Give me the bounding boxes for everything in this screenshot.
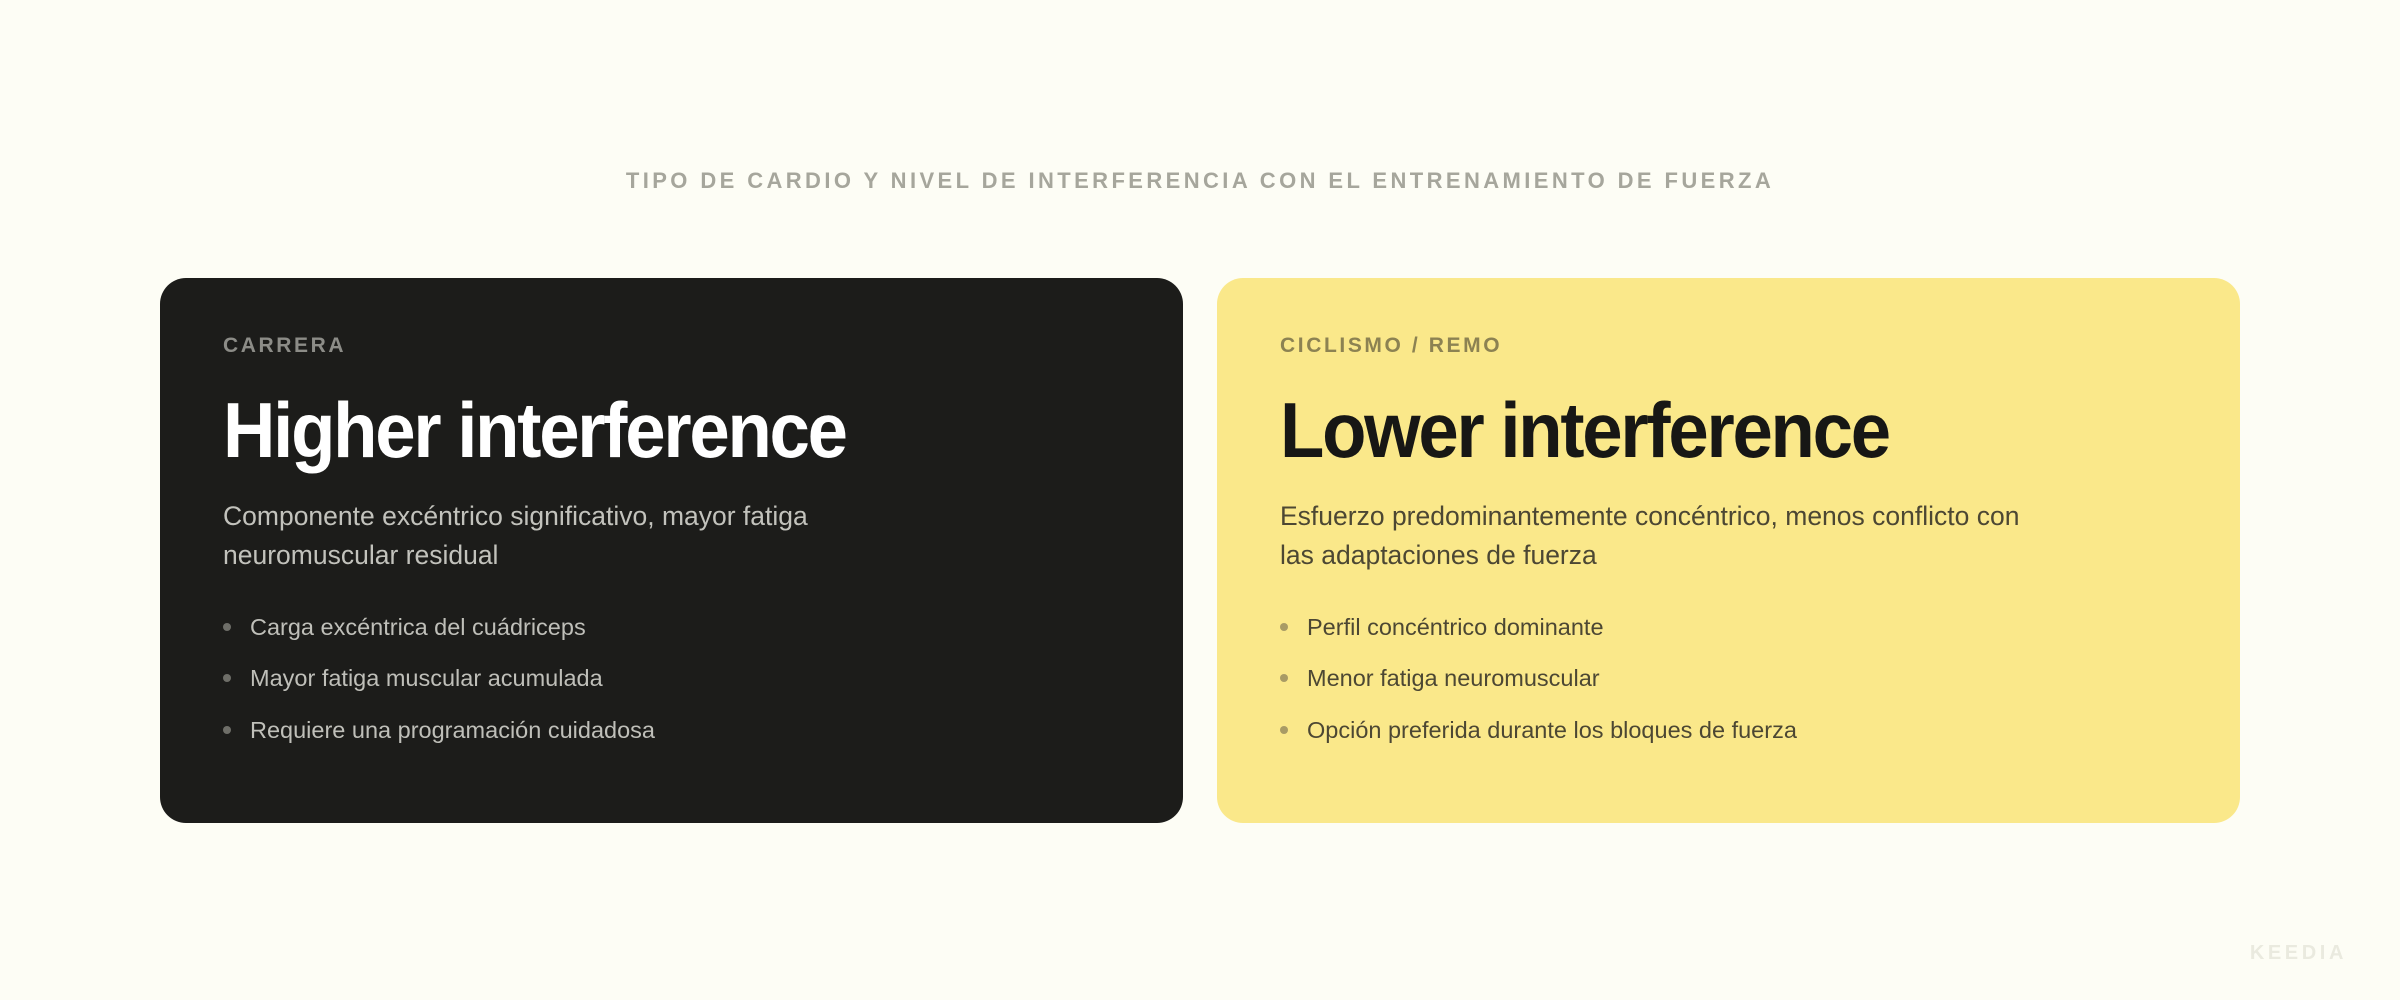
comparison-card-grid: CARRERA Higher interference Componente e…: [160, 278, 2240, 823]
bullet-dot-icon: [223, 623, 231, 631]
card-description: Componente excéntrico significativo, may…: [223, 497, 983, 575]
list-item: Opción preferida durante los bloques de …: [1280, 719, 2177, 743]
list-item: Menor fatiga neuromuscular: [1280, 667, 2177, 691]
list-item: Requiere una programación cuidadosa: [223, 719, 1120, 743]
list-item-label: Perfil concéntrico dominante: [1307, 614, 1604, 640]
card-description: Esfuerzo predominantemente concéntrico, …: [1280, 497, 2040, 575]
card-title: Lower interference: [1280, 393, 2114, 467]
list-item-label: Mayor fatiga muscular acumulada: [250, 665, 603, 691]
list-item-label: Opción preferida durante los bloques de …: [1307, 717, 1797, 743]
card-higher-interference: CARRERA Higher interference Componente e…: [160, 278, 1183, 823]
list-item: Mayor fatiga muscular acumulada: [223, 667, 1120, 691]
brand-watermark: KEEDIA: [2250, 943, 2347, 963]
section-kicker: TIPO DE CARDIO Y NIVEL DE INTERFERENCIA …: [0, 170, 2400, 192]
infographic-canvas: TIPO DE CARDIO Y NIVEL DE INTERFERENCIA …: [0, 0, 2400, 1000]
list-item: Carga excéntrica del cuádriceps: [223, 616, 1120, 640]
card-lower-interference: CICLISMO / REMO Lower interference Esfue…: [1217, 278, 2240, 823]
card-title: Higher interference: [223, 393, 1057, 467]
card-bullet-list: Carga excéntrica del cuádriceps Mayor fa…: [223, 616, 1120, 743]
card-bullet-list: Perfil concéntrico dominante Menor fatig…: [1280, 616, 2177, 743]
list-item-label: Carga excéntrica del cuádriceps: [250, 614, 586, 640]
bullet-dot-icon: [1280, 623, 1288, 631]
list-item-label: Menor fatiga neuromuscular: [1307, 665, 1600, 691]
list-item: Perfil concéntrico dominante: [1280, 616, 2177, 640]
list-item-label: Requiere una programación cuidadosa: [250, 717, 655, 743]
bullet-dot-icon: [223, 674, 231, 682]
bullet-dot-icon: [223, 726, 231, 734]
bullet-dot-icon: [1280, 726, 1288, 734]
bullet-dot-icon: [1280, 674, 1288, 682]
card-eyebrow-label: CICLISMO / REMO: [1280, 335, 2177, 356]
card-eyebrow-label: CARRERA: [223, 335, 1120, 356]
